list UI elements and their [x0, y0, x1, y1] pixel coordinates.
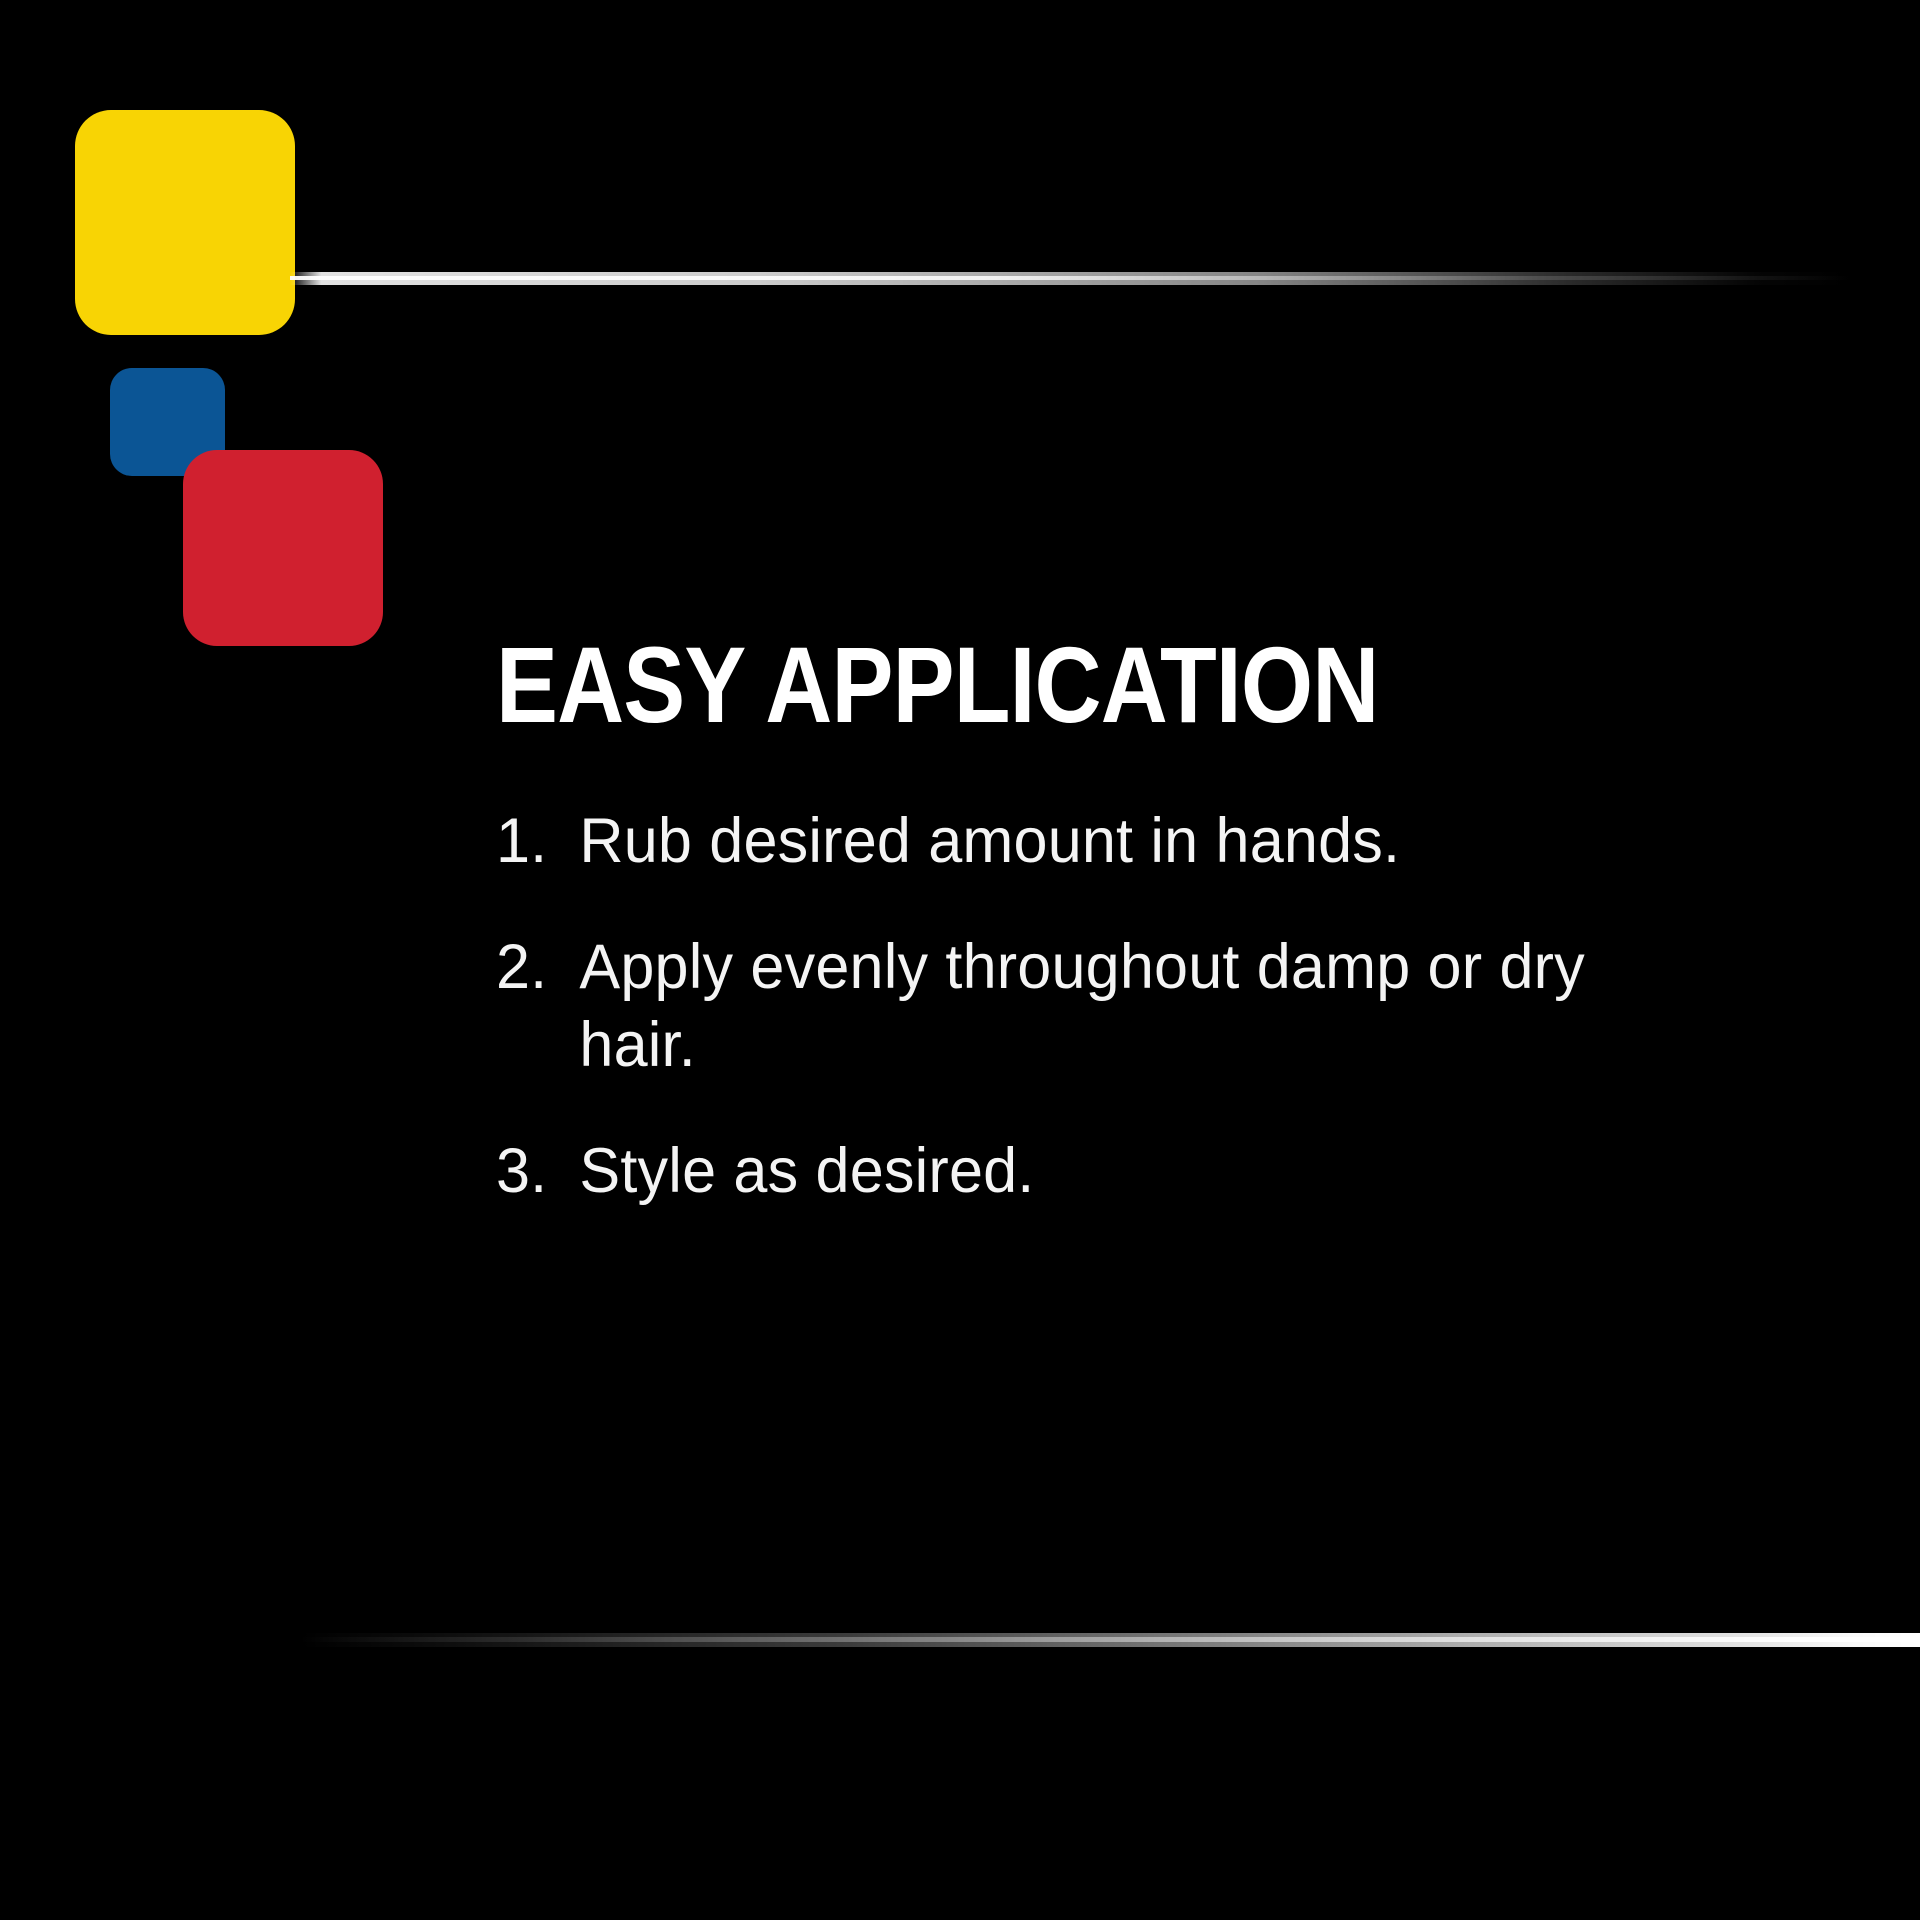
instruction-steps-list: 1. Rub desired amount in hands. 2. Apply… [496, 802, 1836, 1210]
list-item: 2. Apply evenly throughout damp or dry h… [496, 928, 1796, 1084]
step-number: 2. [496, 928, 579, 1006]
yellow-square-icon [75, 110, 295, 335]
slide-canvas: EASY APPLICATION 1. Rub desired amount i… [0, 0, 1920, 1920]
step-text: Apply evenly throughout damp or dry hair… [579, 928, 1704, 1084]
list-item: 3. Style as desired. [496, 1132, 1796, 1210]
red-square-icon [183, 450, 383, 646]
page-title: EASY APPLICATION [496, 630, 1648, 740]
step-number: 3. [496, 1132, 579, 1210]
top-divider-line [290, 272, 1850, 285]
list-item: 1. Rub desired amount in hands. [496, 802, 1796, 880]
content-block: EASY APPLICATION 1. Rub desired amount i… [496, 630, 1836, 1211]
step-text: Rub desired amount in hands. [579, 802, 1704, 880]
bottom-divider-line [300, 1633, 1920, 1647]
step-text: Style as desired. [579, 1132, 1704, 1210]
step-number: 1. [496, 802, 579, 880]
